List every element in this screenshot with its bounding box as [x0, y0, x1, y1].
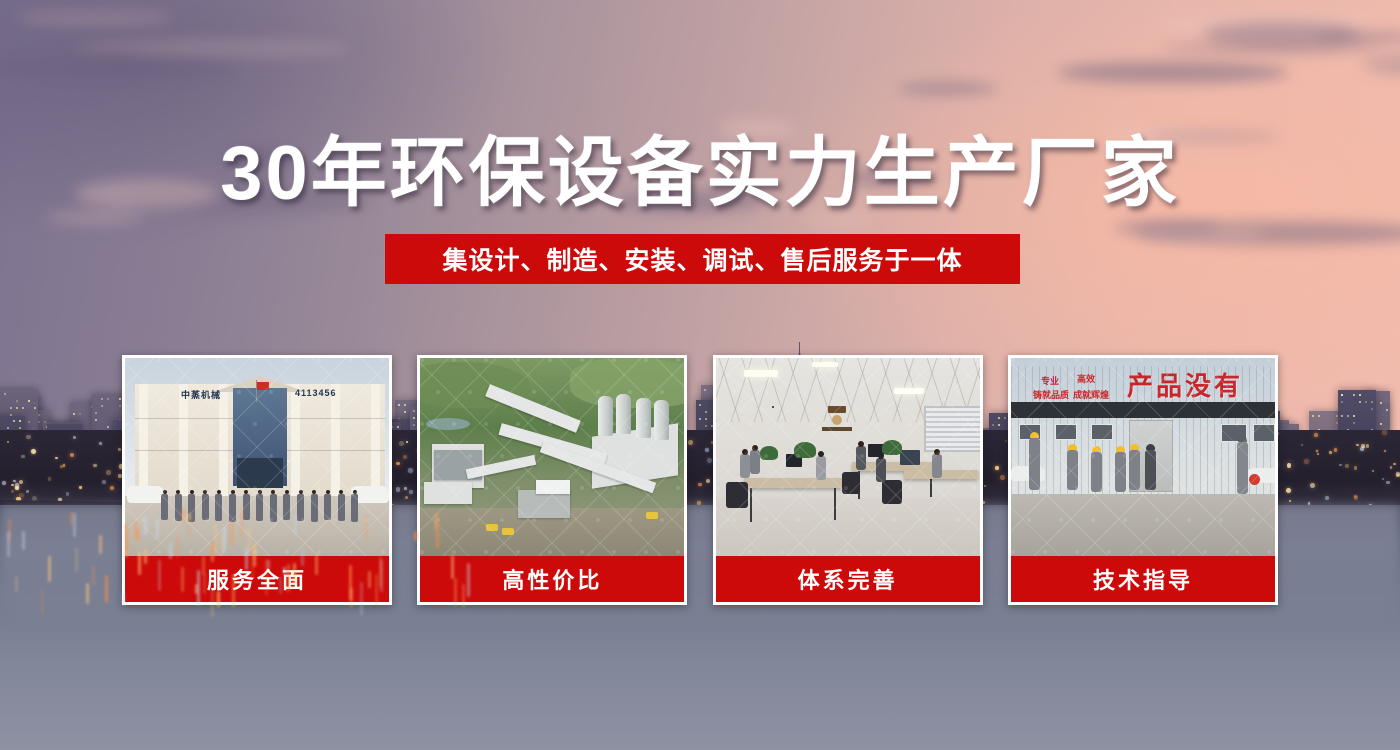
card-photo-workers-training: 产品没有 专业 高效 铸就品质 成就辉煌	[1011, 358, 1275, 556]
factory-wall-text-1: 专业	[1041, 374, 1059, 387]
feature-card[interactable]: 高性价比	[417, 355, 687, 605]
building-phone-text: 4113456	[295, 388, 337, 398]
building-sign-text: 中蒸机械	[181, 388, 221, 401]
page-title: 30年环保设备实力生产厂家	[0, 133, 1400, 215]
feature-card[interactable]: 产品没有 专业 高效 铸就品质 成就辉煌	[1008, 355, 1278, 605]
card-caption: 技术指导	[1011, 556, 1275, 602]
card-caption-text: 服务全面	[207, 563, 307, 595]
card-photo-plant-aerial	[420, 358, 684, 556]
factory-wall-slogan: 产品没有	[1127, 366, 1243, 403]
card-caption: 体系完善	[716, 556, 980, 602]
card-caption-text: 高性价比	[502, 563, 602, 595]
hero-banner: 30年环保设备实力生产厂家 集设计、制造、安装、调试、售后服务于一体	[0, 0, 1400, 750]
card-caption: 高性价比	[420, 556, 684, 602]
feature-card[interactable]: 体系完善	[713, 355, 983, 605]
subtitle-text: 集设计、制造、安装、调试、售后服务于一体	[442, 241, 962, 277]
card-caption-text: 技术指导	[1093, 563, 1193, 595]
factory-wall-text-3: 铸就品质	[1033, 388, 1069, 401]
card-photo-headquarters: 中蒸机械 4113456	[125, 358, 389, 556]
subtitle-banner: 集设计、制造、安装、调试、售后服务于一体	[385, 234, 1020, 284]
card-photo-office-interior	[716, 358, 980, 556]
factory-wall-text-4: 成就辉煌	[1073, 388, 1109, 401]
card-caption-text: 体系完善	[798, 563, 898, 595]
factory-wall-text-2: 高效	[1077, 372, 1095, 385]
